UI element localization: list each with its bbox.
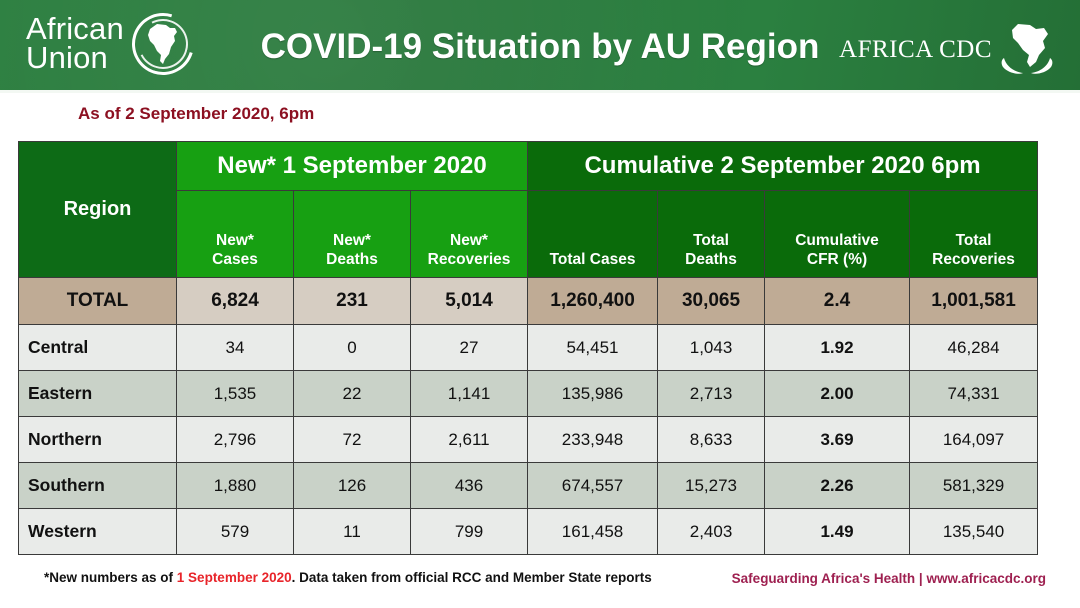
cell-new-deaths: 11 <box>294 509 411 555</box>
cell-new-recoveries: 799 <box>411 509 528 555</box>
group-header-cumulative: Cumulative 2 September 2020 6pm <box>528 142 1038 191</box>
cell-new-deaths: 22 <box>294 371 411 417</box>
cell-total-new-deaths: 231 <box>294 278 411 325</box>
cell-new-cases: 1,880 <box>177 463 294 509</box>
cell-total-cases: 54,451 <box>528 325 658 371</box>
table-header: Region New* 1 September 2020 Cumulative … <box>19 142 1038 278</box>
header-line2: Recoveries <box>428 251 511 268</box>
header-line2: Deaths <box>685 251 737 268</box>
column-header-total-cases: Total Cases <box>528 191 658 278</box>
cell-region: Southern <box>19 463 177 509</box>
header-line1: New* <box>333 232 371 249</box>
header-line1: New* <box>216 232 254 249</box>
header-banner: African Union COVID-19 Situation by AU R… <box>0 0 1080 93</box>
table-row: Southern 1,880 126 436 674,557 15,273 2.… <box>19 463 1038 509</box>
cell-total-cases: 161,458 <box>528 509 658 555</box>
column-header-new-recoveries: New* Recoveries <box>411 191 528 278</box>
group-header-new: New* 1 September 2020 <box>177 142 528 191</box>
cell-total-deaths: 2,403 <box>658 509 765 555</box>
cell-new-recoveries: 27 <box>411 325 528 371</box>
cell-new-deaths: 0 <box>294 325 411 371</box>
header-line2: Deaths <box>326 251 378 268</box>
cell-total-cases: 233,948 <box>528 417 658 463</box>
footnote-date: 1 September 2020 <box>177 570 292 585</box>
banner-bottom-edge <box>0 90 1080 93</box>
cell-region: Western <box>19 509 177 555</box>
cell-new-cases: 34 <box>177 325 294 371</box>
cell-cfr: 2.26 <box>765 463 910 509</box>
cell-total-deaths: 8,633 <box>658 417 765 463</box>
column-header-new-deaths: New* Deaths <box>294 191 411 278</box>
cell-total-deaths: 2,713 <box>658 371 765 417</box>
table-header-group-row: Region New* 1 September 2020 Cumulative … <box>19 142 1038 191</box>
africa-map-in-hands-icon <box>996 22 1058 78</box>
footnote: *New numbers as of 1 September 2020. Dat… <box>44 570 652 585</box>
cell-total-cases: 674,557 <box>528 463 658 509</box>
cell-total-label: TOTAL <box>19 278 177 325</box>
cell-total-total-deaths: 30,065 <box>658 278 765 325</box>
footnote-prefix: *New numbers as of <box>44 570 177 585</box>
cell-total-total-recoveries: 1,001,581 <box>910 278 1038 325</box>
slide-page: African Union COVID-19 Situation by AU R… <box>0 0 1080 608</box>
cell-total-deaths: 15,273 <box>658 463 765 509</box>
cell-cfr: 2.00 <box>765 371 910 417</box>
cell-cfr: 1.49 <box>765 509 910 555</box>
cell-total-new-cases: 6,824 <box>177 278 294 325</box>
header-line2: CFR (%) <box>807 251 867 268</box>
header-line1: Total <box>693 232 729 249</box>
cell-new-recoveries: 436 <box>411 463 528 509</box>
africa-cdc-wordmark: AFRICA CDC <box>839 36 992 64</box>
cell-new-recoveries: 2,611 <box>411 417 528 463</box>
table-row-total: TOTAL 6,824 231 5,014 1,260,400 30,065 2… <box>19 278 1038 325</box>
cell-region: Northern <box>19 417 177 463</box>
cell-new-recoveries: 1,141 <box>411 371 528 417</box>
header-line2: Recoveries <box>932 251 1015 268</box>
header-line1: Total <box>956 232 992 249</box>
cell-new-cases: 1,535 <box>177 371 294 417</box>
column-header-new-cases: New* Cases <box>177 191 294 278</box>
table-row: Western 579 11 799 161,458 2,403 1.49 13… <box>19 509 1038 555</box>
cell-region: Eastern <box>19 371 177 417</box>
cell-new-cases: 2,796 <box>177 417 294 463</box>
table-body: TOTAL 6,824 231 5,014 1,260,400 30,065 2… <box>19 278 1038 555</box>
cell-total-recoveries: 581,329 <box>910 463 1038 509</box>
table-row: Eastern 1,535 22 1,141 135,986 2,713 2.0… <box>19 371 1038 417</box>
cell-cfr: 1.92 <box>765 325 910 371</box>
header-line1: New* <box>450 232 488 249</box>
header-line1: Cumulative <box>795 232 879 249</box>
cell-total-cfr: 2.4 <box>765 278 910 325</box>
table-row: Northern 2,796 72 2,611 233,948 8,633 3.… <box>19 417 1038 463</box>
cell-total-recoveries: 164,097 <box>910 417 1038 463</box>
cell-total-deaths: 1,043 <box>658 325 765 371</box>
as-of-label: As of 2 September 2020, 6pm <box>78 104 314 124</box>
cell-total-recoveries: 135,540 <box>910 509 1038 555</box>
header-line2: Cases <box>212 251 258 268</box>
cell-total-recoveries: 74,331 <box>910 371 1038 417</box>
cell-region: Central <box>19 325 177 371</box>
column-header-cumulative-cfr: Cumulative CFR (%) <box>765 191 910 278</box>
cell-total-total-cases: 1,260,400 <box>528 278 658 325</box>
header-line2: Total Cases <box>550 251 636 268</box>
footnote-suffix: . Data taken from official RCC and Membe… <box>292 570 652 585</box>
cell-new-cases: 579 <box>177 509 294 555</box>
cell-total-new-recoveries: 5,014 <box>411 278 528 325</box>
column-header-total-recoveries: Total Recoveries <box>910 191 1038 278</box>
cell-new-deaths: 126 <box>294 463 411 509</box>
cell-total-cases: 135,986 <box>528 371 658 417</box>
cell-new-deaths: 72 <box>294 417 411 463</box>
cell-cfr: 3.69 <box>765 417 910 463</box>
table-row: Central 34 0 27 54,451 1,043 1.92 46,284 <box>19 325 1038 371</box>
column-header-region: Region <box>19 142 177 278</box>
region-summary-table: Region New* 1 September 2020 Cumulative … <box>18 141 1038 555</box>
region-summary-table-wrapper: Region New* 1 September 2020 Cumulative … <box>18 141 1037 555</box>
cell-total-recoveries: 46,284 <box>910 325 1038 371</box>
footer-tagline: Safeguarding Africa's Health | www.afric… <box>732 571 1046 586</box>
africa-cdc-logo: AFRICA CDC <box>839 22 1058 78</box>
column-header-total-deaths: Total Deaths <box>658 191 765 278</box>
